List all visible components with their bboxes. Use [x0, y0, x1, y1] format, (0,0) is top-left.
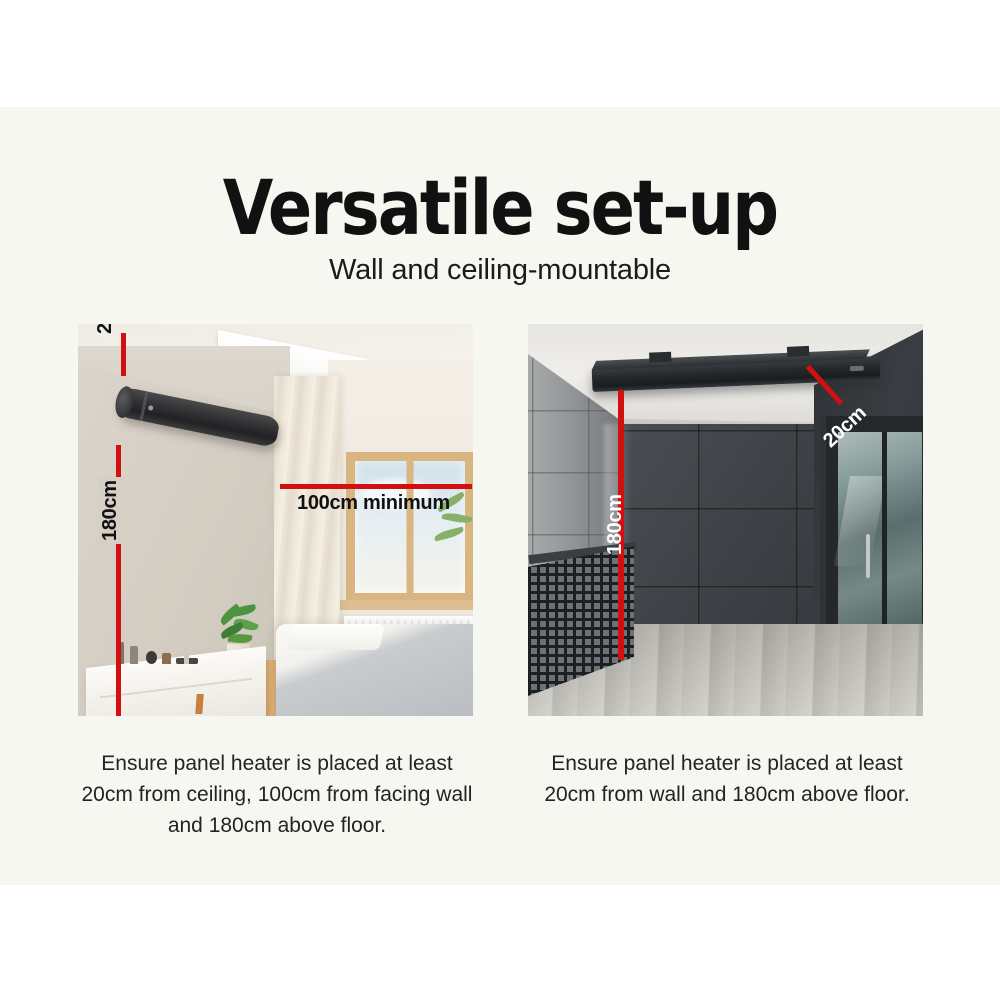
glass-divider [882, 432, 887, 638]
annotation-line-ceiling-gap [121, 333, 126, 376]
sideboard-decor-objects [114, 636, 204, 664]
caption-ceiling-mount: Ensure panel heater is placed at least 2… [528, 748, 926, 810]
infographic-page: Versatile set-up Wall and ceiling-mounta… [0, 0, 1000, 1000]
window-mullion [407, 461, 414, 593]
heater-indicator [148, 405, 154, 411]
door-handle [866, 534, 870, 578]
heater-band [140, 391, 149, 421]
annotation-line-facing-wall [280, 484, 472, 489]
glass-reflection [834, 476, 886, 566]
annotation-label-facing-wall: 100cm minimum [297, 492, 450, 515]
page-title: Versatile set-up [70, 168, 930, 248]
bedroom-pillow [287, 624, 385, 650]
annotation-label-floor-height: 180cm [98, 477, 123, 544]
heater-indicator [850, 366, 864, 372]
annotation-label-ceiling-gap: 20cm [94, 324, 117, 334]
heater-bracket-right [787, 346, 809, 357]
sideboard-leg [195, 694, 203, 714]
tile-grout-grid [610, 424, 832, 646]
heater-bracket-left [649, 352, 671, 363]
photo-bedroom-wall-mount: 20cm 180cm 100cm minimum [78, 324, 473, 716]
caption-wall-mount: Ensure panel heater is placed at least 2… [78, 748, 476, 841]
balcony-back-wall [610, 424, 832, 646]
panel-ceiling-mount: 180cm 20cm [528, 324, 923, 716]
panel-wall-mount: 20cm 180cm 100cm minimum [78, 324, 473, 716]
photo-balcony-ceiling-mount: 180cm 20cm [528, 324, 923, 716]
annotation-label-floor-height: 180cm [604, 494, 627, 555]
door-glass [838, 432, 922, 638]
page-subtitle: Wall and ceiling-mountable [0, 252, 1000, 288]
window-sill [336, 600, 473, 610]
